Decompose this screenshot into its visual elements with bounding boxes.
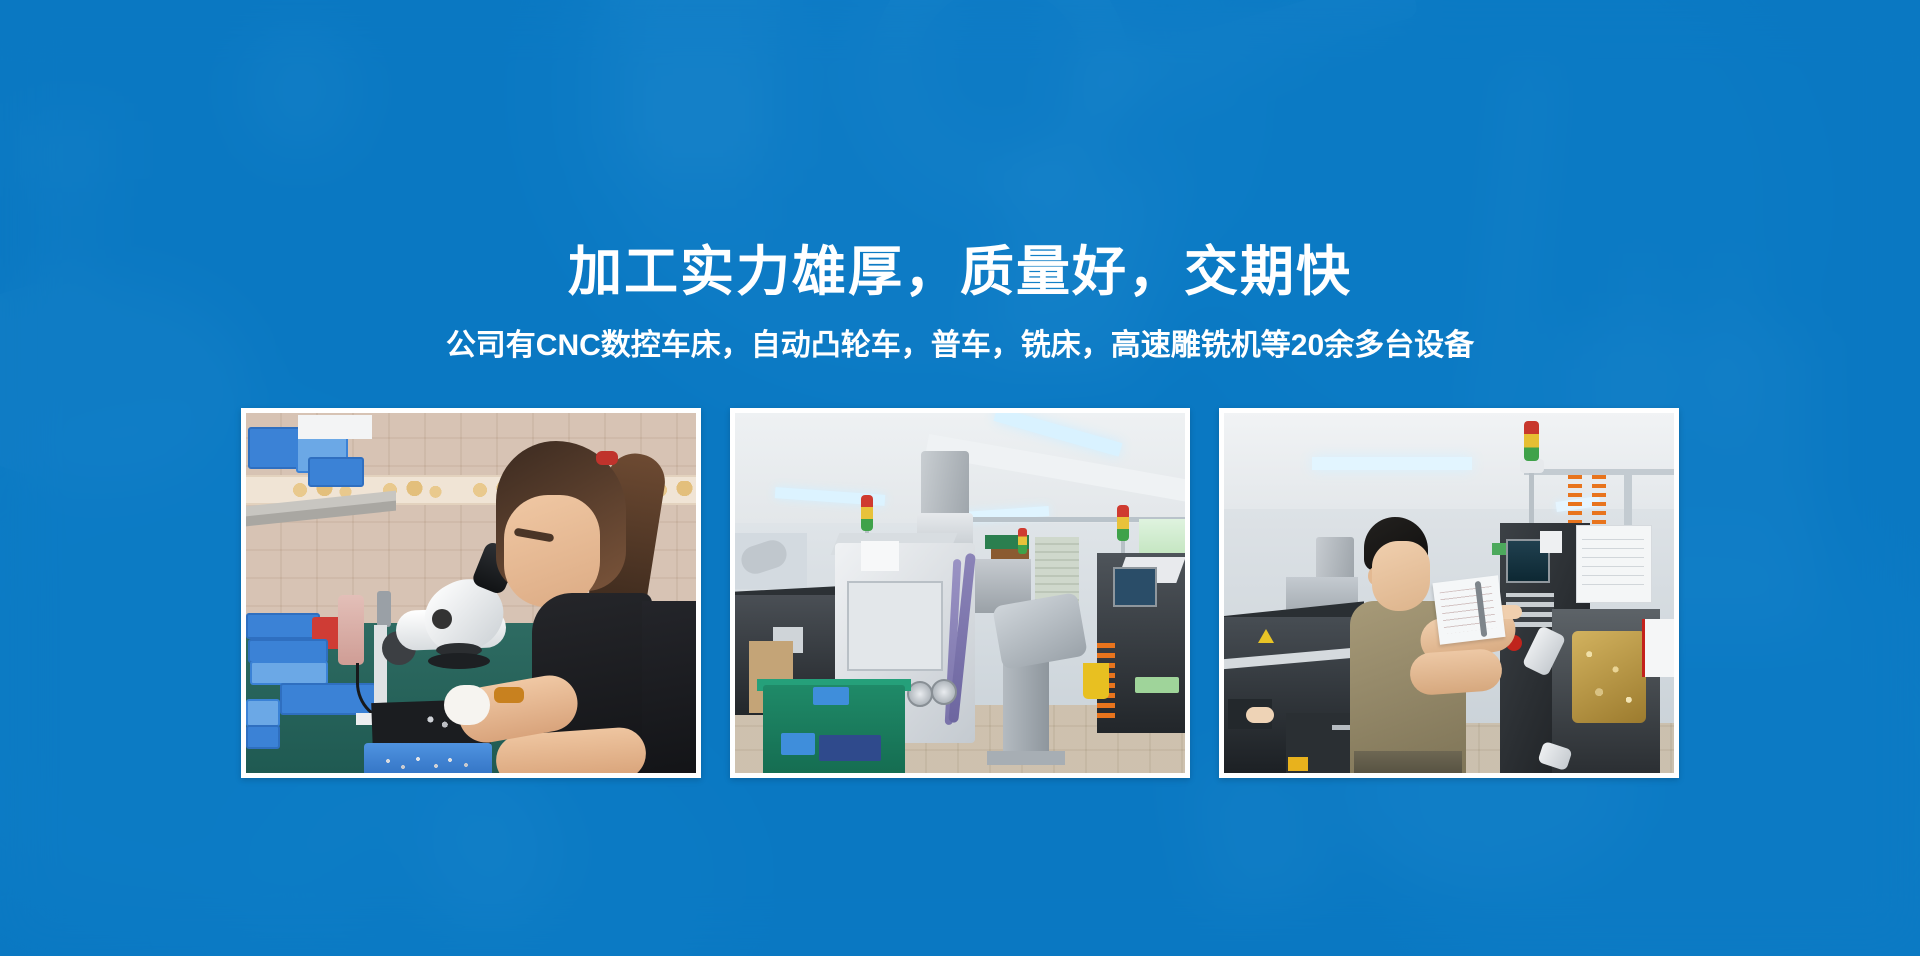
machine-base-plate (987, 751, 1065, 765)
signal-tower-lamp (1524, 421, 1539, 461)
drawing-lines (1582, 535, 1644, 593)
air-hose-coil (1592, 475, 1606, 527)
posted-drawing (861, 541, 899, 571)
signal-tower-lamp (1018, 528, 1027, 554)
chip-extractor-duct (921, 451, 969, 519)
hair-tie (596, 451, 618, 465)
operator-face (1372, 541, 1430, 611)
signal-tower-base (1520, 459, 1544, 473)
gallery-photo-cnc-operator[interactable] (1219, 408, 1679, 778)
spare-part (1246, 707, 1274, 723)
storage-basket (246, 725, 280, 749)
promo-banner: 加工实力雄厚，质量好，交期快 公司有CNC数控车床，自动凸轮车，普车，铣床，高速… (0, 0, 1920, 956)
banner-content: 加工实力雄厚，质量好，交期快 公司有CNC数控车床，自动凸轮车，普车，铣床，高速… (0, 0, 1920, 956)
green-parts-tray (1135, 677, 1179, 693)
storage-basket (250, 661, 328, 685)
storage-basket (308, 457, 364, 487)
tool-tray (819, 735, 881, 761)
cnc-control-screen (1113, 567, 1157, 607)
photo-gallery (241, 408, 1679, 778)
signal-tower-lamp (1117, 505, 1129, 541)
air-hose-coil (1568, 475, 1582, 527)
yellow-tag (1288, 757, 1308, 771)
ceiling-pipe (1624, 469, 1632, 529)
fluorescent-light (1312, 457, 1472, 470)
photo-image-cnc-operator (1224, 413, 1674, 773)
zoom-knob (432, 609, 452, 629)
yellow-bucket (1083, 663, 1109, 699)
drawing-lines (1440, 586, 1497, 634)
water-bottle (338, 595, 364, 665)
worker-face (504, 495, 600, 607)
microscope-stage (428, 653, 490, 669)
operator-trousers (1354, 751, 1462, 773)
worker-vest-back (642, 601, 696, 773)
page-subtitle: 公司有CNC数控车床，自动凸轮车，普车，铣床，高速雕铣机等20余多台设备 (446, 331, 1474, 361)
paper-stack (298, 415, 372, 439)
safety-notice (1642, 619, 1674, 677)
pressure-gauge (931, 679, 957, 705)
bead-bracelet (494, 687, 524, 703)
signal-tower-lamp (861, 495, 873, 531)
blue-parts-bin (813, 687, 849, 705)
microscope-post-top (377, 591, 391, 627)
storage-basket (248, 639, 328, 663)
page-title: 加工实力雄厚，质量好，交期快 (568, 245, 1352, 299)
photo-image-quality-inspection (246, 413, 696, 773)
gallery-photo-quality-inspection[interactable] (241, 408, 701, 778)
machine-access-door (847, 581, 943, 671)
storage-basket (246, 699, 280, 727)
machine-label (1540, 531, 1562, 553)
operator-forearm (1409, 648, 1504, 696)
gallery-photo-cnc-workshop[interactable] (730, 408, 1190, 778)
storage-basket (246, 613, 320, 639)
metal-parts-in-tray (378, 753, 478, 773)
metal-chips (1576, 639, 1642, 715)
photo-image-cnc-workshop (735, 413, 1185, 773)
storage-basket (248, 427, 302, 469)
worker-gloved-hand (444, 685, 490, 725)
blue-parts-bin (781, 733, 815, 755)
